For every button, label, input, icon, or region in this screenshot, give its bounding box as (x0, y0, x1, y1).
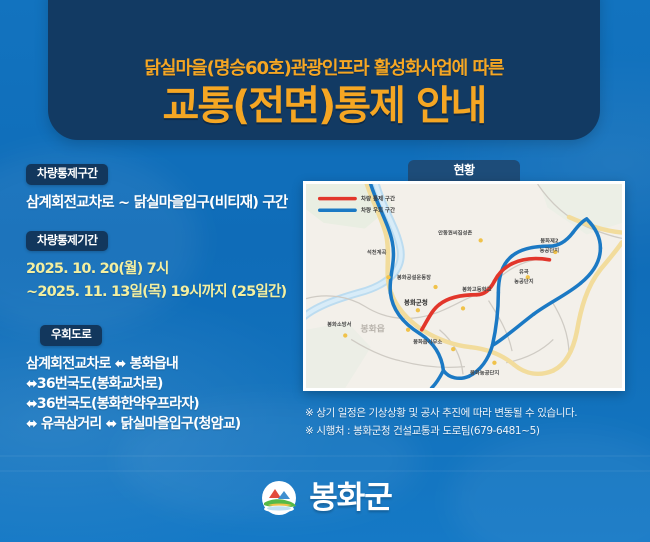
detour-route-list: 삼계회전교차로 ⬌ 봉화읍내 ⬌36번국도(봉화교차로) ⬌36번국도(봉화한약… (26, 354, 294, 435)
poster-canvas: 닭실마을(명승60호)관광인프라 활성화사업에 따른 교통(전면)통제 안내 차… (0, 0, 650, 542)
map-label-bonghwa-county-office: 봉화군청 (404, 297, 428, 306)
map-section: 현황 (303, 160, 625, 391)
map-label-bonghwa-high-school: 봉화고등학교 (462, 285, 491, 293)
footnote-contact: ※ 시행처 : 봉화군청 건설교통과 도로팀(679-6481~5) (305, 422, 635, 440)
header-panel: 닭실마을(명승60호)관광인프라 활성화사업에 따른 교통(전면)통제 안내 (48, 0, 600, 140)
label-control-period: 차량통제기간 (26, 231, 108, 252)
logo-row: 봉화군 (0, 478, 650, 518)
detour-route-line: ⬌36번국도(봉화교차로) (26, 374, 294, 394)
detour-route-line: 삼계회전교차로 ⬌ 봉화읍내 (26, 354, 294, 374)
footnotes: ※ 상기 일정은 기상상황 및 공사 추진에 따라 변동될 수 있습니다. ※ … (305, 404, 635, 441)
map-label-bonghwa-fire-station: 봉화소방서 (327, 320, 352, 328)
map-label-bonghwa-public-stadium: 봉화공설운동장 (397, 273, 431, 281)
info-block-control-period: 차량통제기간 2025. 10. 20(월) 7시 ~2025. 11. 13일… (26, 229, 294, 304)
background-decoration-stripe (0, 470, 650, 472)
detour-route-line: ⬌36번국도(봉화한약우프라자) (26, 394, 294, 414)
label-detour-road: 우회도로 (40, 325, 102, 346)
map-label-andong-kwon-clan-village: 안동권씨집성촌 (438, 229, 472, 237)
info-block-detour: 우회도로 삼계회전교차로 ⬌ 봉화읍내 ⬌36번국도(봉화교차로) ⬌36번국도… (26, 323, 294, 435)
map-label-bonghwa-eup-office: 봉화읍사무소 (413, 337, 442, 345)
label-control-section: 차량통제구간 (26, 164, 108, 185)
map-label-yugok-industrial-complex-sub: 농공단지 (514, 277, 534, 285)
background-decoration-stripe (0, 455, 650, 457)
value-control-period-end: ~2025. 11. 13일(목) 19시까지 (25일간) (26, 282, 294, 303)
map-graphic: 봉화읍 석천계곡 안동권씨집성촌 봉화공설운동장 봉화고등학교 봉화소방서 봉화… (306, 184, 622, 388)
value-control-section: 삼계회전교차로 ~ 닭실마을입구(비티재) 구간 (26, 193, 294, 214)
logo-text-bonghwa-county: 봉화군 (309, 483, 392, 514)
map-label-region: 봉화읍 (361, 323, 385, 335)
detour-route-line: ⬌ 유곡삼거리 ⬌ 닭실마을입구(청암교) (26, 414, 294, 434)
map-label-bonghwa-industrial-complex: 봉화농공단지 (470, 368, 499, 376)
map-label-seokcheon-valley: 석천계곡 (367, 248, 387, 256)
value-control-period-start: 2025. 10. 20(월) 7시 (26, 259, 294, 280)
page-title: 교통(전면)통제 안내 (163, 86, 486, 126)
legend-label-detour: 차량 우회 구간 (361, 206, 395, 214)
map-label-bonghwa-2nd-industrial-complex-sub: 농공단지 (540, 246, 560, 254)
header-subtitle: 닭실마을(명승60호)관광인프라 활성화사업에 따른 (144, 60, 503, 78)
map-tab-status: 현황 (408, 160, 520, 181)
bonghwa-county-emblem-icon (258, 478, 300, 518)
map-label-yugok-industrial-complex: 유곡 (519, 267, 529, 275)
info-column: 차량통제구간 삼계회전교차로 ~ 닭실마을입구(비티재) 구간 차량통제기간 2… (26, 162, 294, 450)
map-frame: 봉화읍 석천계곡 안동권씨집성촌 봉화공설운동장 봉화고등학교 봉화소방서 봉화… (303, 181, 625, 391)
legend-label-controlled: 차량 통제 구간 (361, 195, 395, 203)
footnote-schedule-disclaimer: ※ 상기 일정은 기상상황 및 공사 추진에 따라 변동될 수 있습니다. (305, 404, 635, 422)
info-block-control-section: 차량통제구간 삼계회전교차로 ~ 닭실마을입구(비티재) 구간 (26, 162, 294, 214)
map-label-bonghwa-2nd-industrial-complex: 봉화제2 (540, 236, 559, 244)
